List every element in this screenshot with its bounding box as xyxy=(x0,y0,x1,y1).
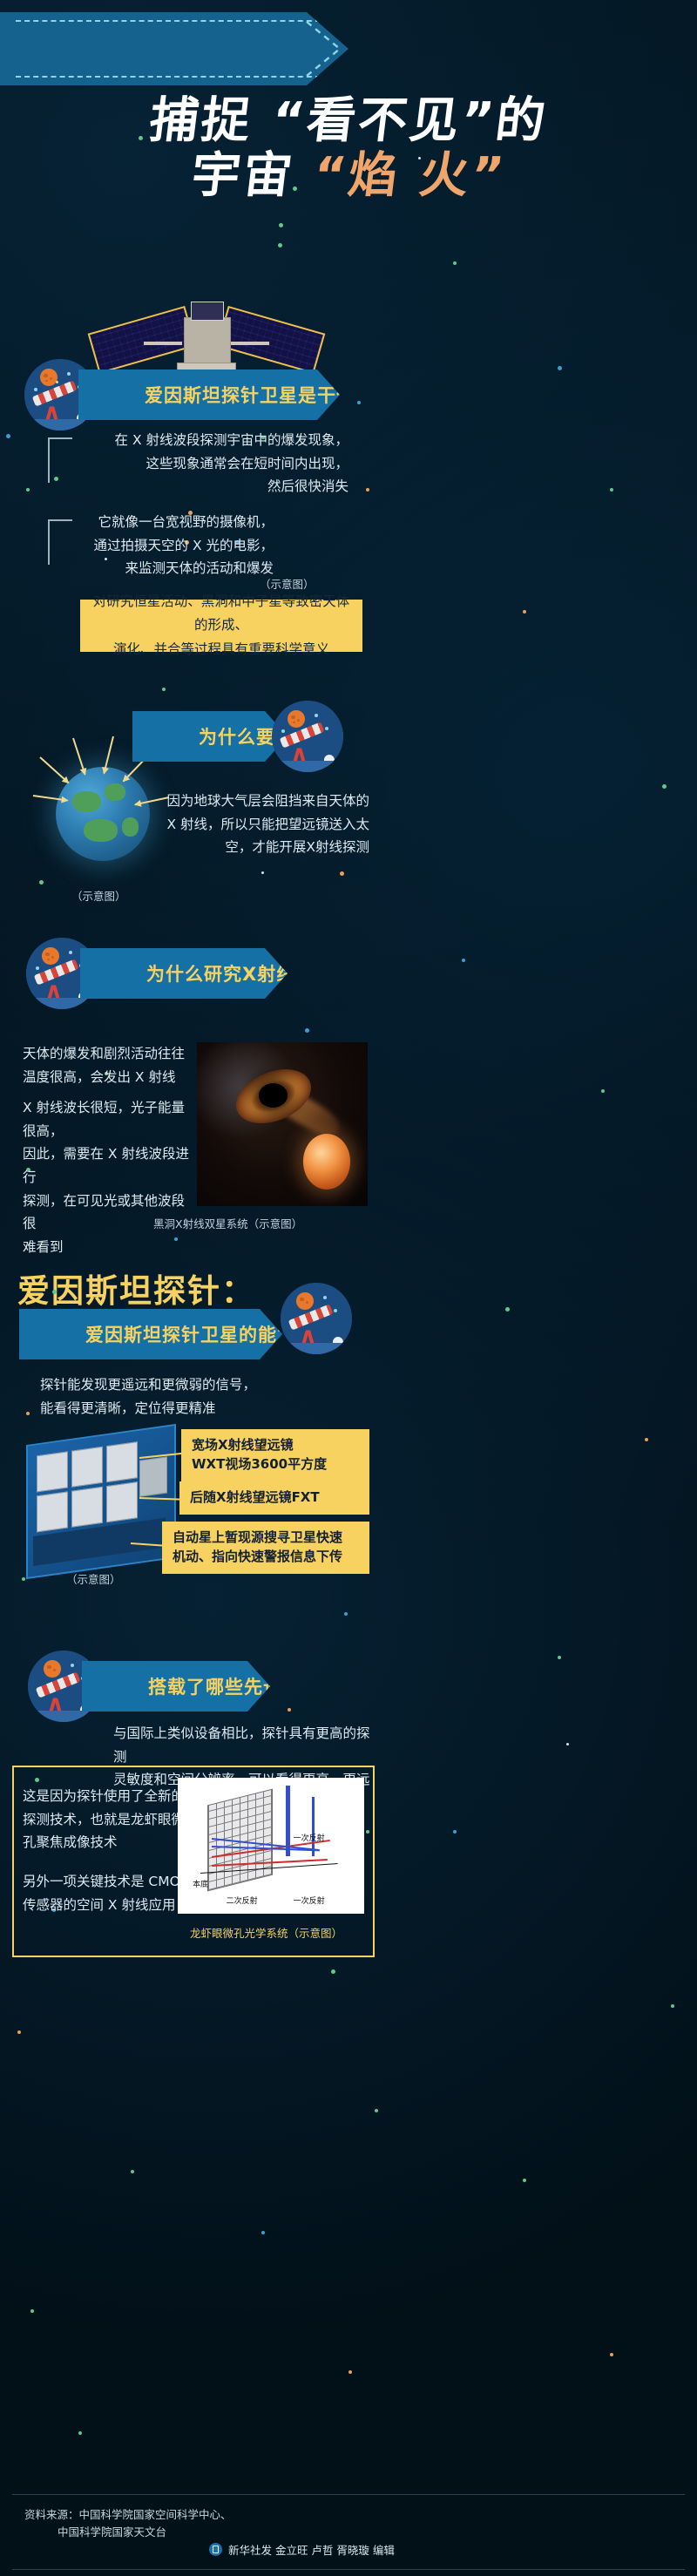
body-text-why-xray-1: 天体的爆发和剧烈活动往往 温度很高，会发出 X 射线 xyxy=(23,1042,193,1088)
main-title-capture: 捕捉 xyxy=(146,92,256,149)
body-text-what-is-it-1: 在 X 射线波段探测宇宙中的爆发现象， 这些现象通常会在短时间内出现， 然后很快… xyxy=(38,429,348,498)
telescope-icon xyxy=(281,1283,352,1354)
label-fxt: 后随X射线望远镜FXT xyxy=(179,1481,369,1515)
body-line: 另外一项关键技术是 CMOS xyxy=(23,1870,193,1894)
body-line: X 射线，所以只能把望远镜送入太 xyxy=(153,813,369,837)
main-title-universe: 宇宙 xyxy=(188,147,298,204)
banner-chevron-icon xyxy=(305,20,343,78)
body-line: 因为地球大气层会阻挡来自天体的 xyxy=(153,790,369,813)
label-first-reflection-bottom: 一次反射 xyxy=(294,1895,325,1906)
main-title-flame: 焰 火 xyxy=(345,147,474,204)
body-line: 来监测天体的活动和爆发 xyxy=(21,557,274,580)
caption-earth-diagram: （示意图） xyxy=(71,887,126,904)
flame-quote-close: ” xyxy=(468,147,510,204)
lobster-eye-optics-diagram: 一次反射 本底 二次反射 一次反射 xyxy=(178,1778,364,1914)
section-title-bar-why-xray: 为什么研究X射线波段？ xyxy=(80,948,288,999)
main-title-line-1: 捕捉 “看不见”的 xyxy=(0,94,697,149)
caption-wxt-diagram: （示意图） xyxy=(66,1570,121,1587)
body-line: 难看到 xyxy=(23,1236,197,1259)
caption-lobster-eye: 龙虾眼微孔光学系统（示意图） xyxy=(190,1924,342,1941)
body-line: 能看得更清晰，定位得更精准 xyxy=(40,1397,319,1420)
body-line: 空，才能开展X射线探测 xyxy=(153,836,369,859)
label-second-reflection: 二次反射 xyxy=(227,1895,258,1906)
label-autonomous-transient: 自动星上暂现源搜寻卫星快速 机动、指向快速警报信息下传 xyxy=(162,1522,369,1574)
section-title-how-capable: 爱因斯坦探针卫星的能力有多强？ xyxy=(19,1321,443,1347)
label-first-reflection-right: 一次反射 xyxy=(294,1832,325,1843)
banner-dash-bottom xyxy=(16,76,321,78)
body-text-why-launch: 因为地球大气层会阻挡来自天体的 X 射线，所以只能把望远镜送入太 空，才能开展X… xyxy=(153,790,369,859)
label-line: 机动、指向快速警报信息下传 xyxy=(173,1548,359,1567)
banner-dash-top xyxy=(16,20,321,22)
credit-line: 新华社发 金立旺 卢哲 胥晓璇 编辑 xyxy=(209,2541,395,2558)
label-line: 后随X射线望远镜FXT xyxy=(190,1488,359,1508)
label-line: WXT视场3600平方度 xyxy=(192,1455,359,1474)
body-text-cmos: 另外一项关键技术是 CMOS 传感器的空间 X 射线应用 xyxy=(23,1870,193,1916)
body-line: 传感器的空间 X 射线应用 xyxy=(23,1894,193,1917)
body-line: 这些现象通常会在短时间内出现， xyxy=(38,452,348,476)
section-title-bar-what-is-it: 爱因斯坦探针卫星是干什么的？ xyxy=(78,369,340,420)
body-text-what-is-it-2: 它就像一台宽视野的摄像机， 通过拍摄天空的 X 光的电影， 来监测天体的活动和爆… xyxy=(21,511,274,580)
banner-title-shape xyxy=(0,12,348,85)
body-line: X 射线波长很短，光子能量很高， xyxy=(23,1096,197,1142)
body-line: 温度很高，会发出 X 射线 xyxy=(23,1066,193,1089)
body-line: 然后很快消失 xyxy=(38,475,348,498)
label-wxt: 宽场X射线望远镜 WXT视场3600平方度 xyxy=(181,1429,369,1481)
source-line: 资料来源：中国科学院国家空间科学中心、 xyxy=(24,2506,232,2524)
infographic-page: 爱因斯坦探针： 捕捉 “看不见”的 宇宙 “焰 火” 爱因斯坦探针卫星是干什么的… xyxy=(0,0,697,2576)
body-line: 孔聚焦成像技术 xyxy=(23,1831,188,1854)
section-title-bar-how-capable: 爱因斯坦探针卫星的能力有多强？ xyxy=(19,1309,282,1359)
section-title-bar-why-launch: 为什么要发射卫星？ xyxy=(132,711,288,762)
source-note: 资料来源：中国科学院国家空间科学中心、 中国科学院国家天文台 xyxy=(24,2506,232,2541)
section-title-bar-technologies: 搭载了哪些先进技术？ xyxy=(82,1661,270,1712)
highlight-line: 对研究恒星活动、黑洞和中子星等致密天体的形成、 xyxy=(92,590,350,637)
highlight-box-what-is-it: 对研究恒星活动、黑洞和中子星等致密天体的形成、 演化、并合等过程具有重要科学意义 xyxy=(80,600,362,652)
label-focal-plane: 本底 xyxy=(193,1878,208,1889)
label-line: 宽场X射线望远镜 xyxy=(192,1436,359,1455)
body-line: 探测技术，也就是龙虾眼微 xyxy=(23,1808,188,1832)
label-line: 自动星上暂现源搜寻卫星快速 xyxy=(173,1529,359,1548)
section-title-why-xray: 为什么研究X射线波段？ xyxy=(80,960,423,986)
main-title-line-2: 宇宙 “焰 火” xyxy=(0,149,697,204)
main-title-de: 的 xyxy=(492,92,551,149)
banner-title: 爱因斯坦探针： xyxy=(17,1264,255,1312)
body-line: 在 X 射线波段探测宇宙中的爆发现象， xyxy=(38,429,348,452)
section-title-technologies: 搭载了哪些先进技术？ xyxy=(82,1673,409,1699)
main-title-invisible: 看不见 xyxy=(303,92,464,149)
body-line: 通过拍摄天空的 X 光的电影， xyxy=(21,534,274,558)
caption-black-hole-image: 黑洞X射线双星系统（示意图） xyxy=(153,1215,302,1231)
footer-bottom-divider xyxy=(12,2569,685,2570)
main-title: 捕捉 “看不见”的 宇宙 “焰 火” xyxy=(0,94,697,203)
body-line: 与国际上类似设备相比，探针具有更高的探测 xyxy=(113,1722,371,1768)
wxt-module-illustration xyxy=(26,1424,176,1579)
body-line: 这是因为探针使用了全新的 xyxy=(23,1785,188,1808)
body-line: 探针能发现更遥远和更微弱的信号， xyxy=(40,1373,319,1397)
body-line: 因此，需要在 X 射线波段进行 xyxy=(23,1142,197,1189)
telescope-icon xyxy=(272,701,343,772)
black-hole-binary-image xyxy=(197,1042,368,1206)
body-text-why-xray-2: X 射线波长很短，光子能量很高， 因此，需要在 X 射线波段进行 探测，在可见光… xyxy=(23,1096,197,1259)
satellite-illustration xyxy=(91,281,318,446)
credit-text: 新华社发 金立旺 卢哲 胥晓璇 编辑 xyxy=(228,2541,395,2558)
footer-divider xyxy=(12,2494,685,2495)
section-title-what-is-it: 爱因斯坦探针卫星是干什么的？ xyxy=(78,382,483,408)
body-line: 天体的爆发和剧烈活动往往 xyxy=(23,1042,193,1066)
body-line: 它就像一台宽视野的摄像机， xyxy=(21,511,274,534)
body-text-lobster-eye: 这是因为探针使用了全新的 探测技术，也就是龙虾眼微 孔聚焦成像技术 xyxy=(23,1785,188,1854)
body-text-how-capable: 探针能发现更遥远和更微弱的信号， 能看得更清晰，定位得更精准 xyxy=(40,1373,319,1420)
caption-satellite-diagram: （示意图） xyxy=(260,575,315,592)
source-line: 中国科学院国家天文台 xyxy=(24,2524,232,2541)
highlight-line: 演化、并合等过程具有重要科学意义 xyxy=(92,638,350,661)
xinhua-logo-icon xyxy=(209,2543,222,2556)
